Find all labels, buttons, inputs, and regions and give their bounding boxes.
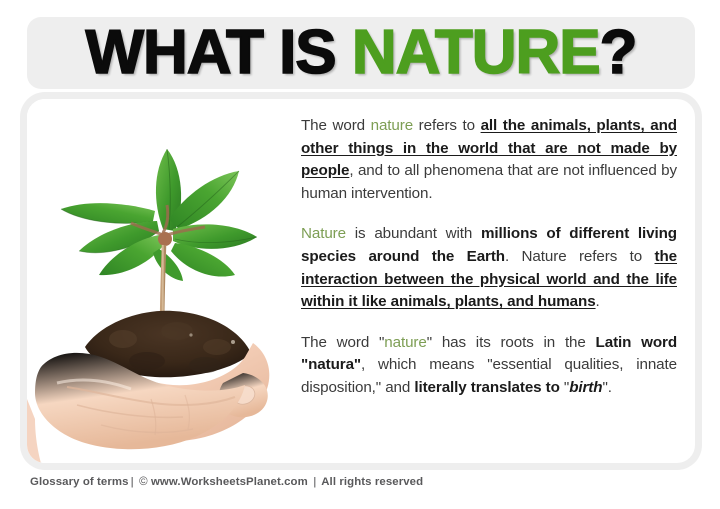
text-run-3-2: nature (384, 334, 426, 351)
copyright-icon: © (139, 476, 148, 488)
text-run-3-6: literally translates to (414, 379, 564, 396)
worksheet-page: WHAT IS NATURE? (0, 0, 720, 509)
seedling-illustration (27, 99, 289, 463)
illustration-panel (27, 99, 289, 463)
hands-holding-seedling-photo (27, 99, 289, 463)
footer-website-link[interactable]: www.WorksheetsPlanet.com (151, 476, 308, 488)
title-part-what-is: WHAT IS (86, 18, 352, 87)
content-card: The word nature refers to all the animal… (27, 99, 695, 463)
paragraph-3: The word "nature" has its roots in the L… (301, 332, 677, 400)
footer: Glossary of terms| © www.WorksheetsPlane… (0, 470, 720, 509)
footer-rights-label: All rights reserved (321, 476, 423, 488)
definition-text-panel: The word nature refers to all the animal… (289, 99, 695, 463)
text-run-2-6: . (596, 293, 600, 310)
title-question-mark: ? (600, 18, 637, 87)
footer-separator-2: | (311, 476, 318, 488)
text-run-3-8: birth (569, 379, 602, 396)
paragraph-2: Nature is abundant with millions of diff… (301, 223, 677, 313)
title-part-nature: NATURE (352, 18, 600, 87)
text-run-2-2: is abundant with (346, 225, 481, 242)
text-run-2-1: Nature (301, 225, 346, 242)
text-run-3-9: ". (602, 379, 611, 396)
text-run-3-3: " has its roots in the (427, 334, 596, 351)
text-run-1-3: refers to (413, 117, 481, 134)
footer-separator-1: | (129, 476, 136, 488)
footer-credits: Glossary of terms| © www.WorksheetsPlane… (30, 476, 423, 488)
title-card: WHAT IS NATURE? (27, 17, 695, 89)
text-run-2-4: . Nature refers to (505, 248, 655, 265)
text-run-1-2: nature (371, 117, 413, 134)
footer-glossary-label: Glossary of terms (30, 476, 129, 488)
page-title: WHAT IS NATURE? (86, 22, 637, 84)
text-run-1-1: The word (301, 117, 371, 134)
paragraph-1: The word nature refers to all the animal… (301, 115, 677, 205)
text-run-3-1: The word " (301, 334, 384, 351)
text-run-1-5: , and to all phenomena that are not infl… (301, 162, 677, 202)
